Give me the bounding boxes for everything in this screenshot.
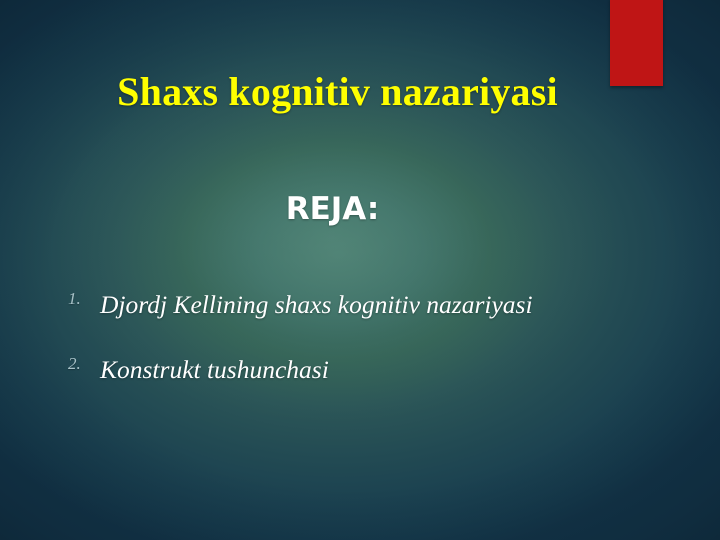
presentation-slide: Shaxs kognitiv nazariyasi REJA: 1. Djord… (0, 0, 720, 540)
agenda-heading: REJA: (0, 192, 665, 226)
agenda-list: 1. Djordj Kellining shaxs kognitiv nazar… (0, 284, 720, 415)
agenda-item-text: Djordj Kellining shaxs kognitiv nazariya… (100, 284, 680, 325)
agenda-item-marker: 2. (68, 354, 98, 374)
agenda-list-item: 1. Djordj Kellining shaxs kognitiv nazar… (0, 284, 720, 325)
agenda-item-marker: 1. (68, 289, 98, 309)
agenda-list-item: 2. Konstrukt tushunchasi (0, 349, 720, 390)
slide-title: Shaxs kognitiv nazariyasi (0, 70, 675, 114)
agenda-item-text: Konstrukt tushunchasi (100, 349, 680, 390)
